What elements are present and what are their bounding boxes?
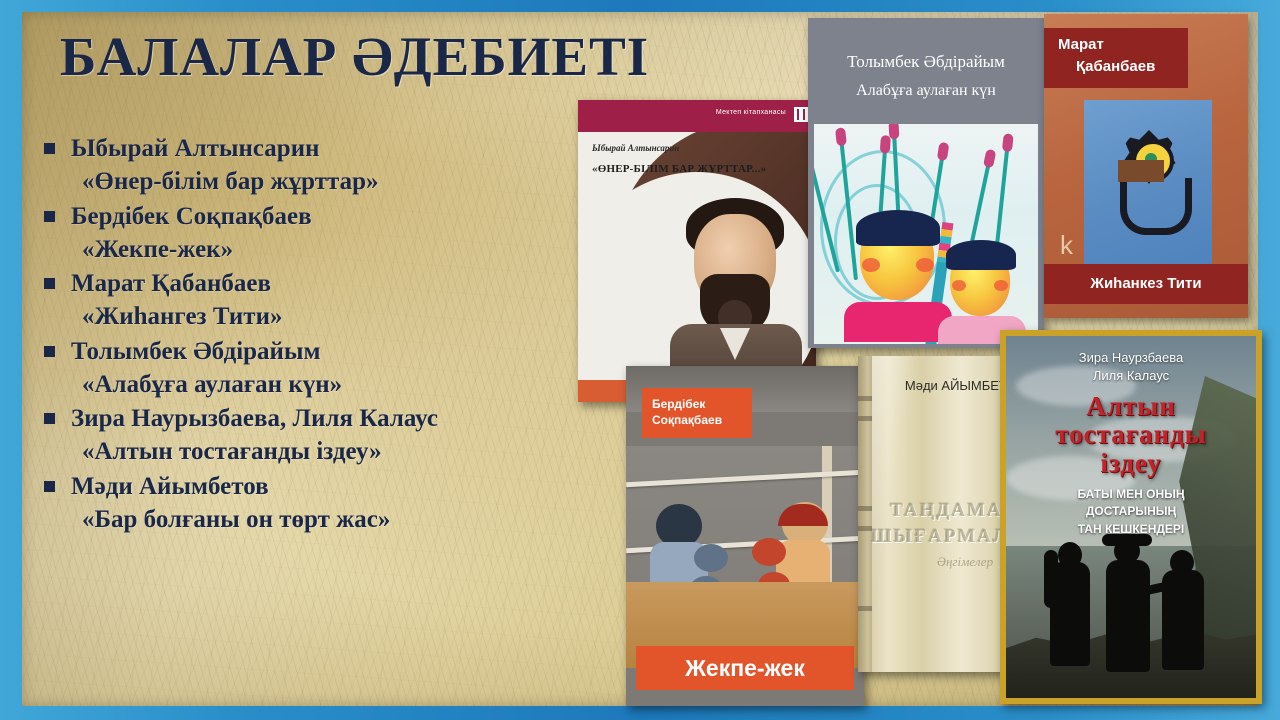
presentation-slide: БАЛАЛАР ӘДЕБИЕТІ Ыбырай Алтынсарин «Өнер… [0, 0, 1280, 720]
bullet-square-icon [44, 481, 55, 492]
abstract-creature-illustration [1112, 122, 1184, 228]
cover-author-block: Марат Қабанбаев [1044, 28, 1188, 88]
boxing-glove [752, 538, 786, 566]
list-item: Зира Наурызбаева, Лиля Калаус «Алтын тос… [44, 402, 644, 469]
list-item-author-row: Толымбек Әбдірайым [44, 335, 644, 368]
cover-author: Ыбырай Алтынсарин [592, 143, 679, 153]
silhouette-hat [1102, 534, 1152, 546]
publisher-logo-icon [794, 107, 808, 122]
cover-author-line2: Лиля Калаус [1006, 368, 1256, 383]
cover-subtitle: БАТЫ МЕН ОНЫҢ ДОСТАРЫНЫҢ ТАН КЕШКЕНДЕРІ [1006, 486, 1256, 538]
cover-author-line2: Қабанбаев [1076, 58, 1155, 75]
book-cover-altynsarin: Мектеп кітапханасы Ыбырай Алтынсарин «ӨН… [578, 100, 816, 402]
cover-title-band: Жекпе-жек [636, 646, 854, 690]
list-item-author: Бердібек Соқпақбаев [71, 200, 312, 233]
boxing-glove [694, 544, 728, 572]
list-item-author: Мәди Айымбетов [71, 470, 269, 503]
cover-subtitle-line1: БАТЫ МЕН ОНЫҢ [1077, 487, 1184, 501]
cover-illustration [814, 124, 1038, 344]
bullet-square-icon [44, 278, 55, 289]
list-item-work: «Алабұға аулаған күн» [44, 368, 644, 401]
cover-publisher-mark: k [1060, 230, 1073, 261]
cover-title: Алтын тостағанды іздеу [1006, 392, 1256, 477]
cover-title: Алабұға аулаған күн [808, 82, 1044, 100]
cover-title: «ӨНЕР-БІЛІМ БАР ЖҰРТТАР...» [592, 163, 766, 175]
cover-author-line1: Марат [1058, 36, 1104, 53]
creature-shape [1118, 160, 1164, 182]
cover-title: Жекпе-жек [636, 655, 854, 682]
list-item-author-row: Мәди Айымбетов [44, 470, 644, 503]
cover-title-band: Жиһанкез Тити [1044, 264, 1248, 304]
list-item-work: «Жекпе-жек» [44, 233, 644, 266]
child-hair [856, 210, 940, 246]
child-hair [946, 240, 1016, 270]
book-cover-altyn-tostagandy-izdeu: Зира Наурзбаева Лиля Калаус Алтын тостағ… [1000, 330, 1262, 704]
list-item: Мәди Айымбетов «Бар болғаны он төрт жас» [44, 470, 644, 537]
child-cheek [916, 258, 934, 272]
list-item-work: «Өнер-білім бар жұрттар» [44, 165, 644, 198]
bullet-square-icon [44, 143, 55, 154]
child-shirt [844, 302, 952, 342]
cover-author-line1: Зира Наурзбаева [1006, 350, 1256, 365]
child-cheek [862, 258, 880, 272]
book-list: Ыбырай Алтынсарин «Өнер-білім бар жұртта… [44, 132, 644, 537]
list-item-author-row: Ыбырай Алтынсарин [44, 132, 644, 165]
bullet-square-icon [44, 413, 55, 424]
cover-subtitle-line2: ДОСТАРЫНЫҢ [1086, 504, 1176, 518]
list-item: Ыбырай Алтынсарин «Өнер-білім бар жұртта… [44, 132, 644, 199]
creature-legs [1120, 178, 1192, 235]
cover-title-line1: Алтын [1086, 391, 1176, 421]
silhouette-hair-girl [1044, 550, 1058, 608]
list-item: Марат Қабанбаев «Жиһангез Тити» [44, 267, 644, 334]
list-item-author-row: Зира Наурызбаева, Лиля Калаус [44, 402, 644, 435]
cover-title-line2: тостағанды [1055, 419, 1207, 449]
child-illustration-right [938, 240, 1030, 344]
cover-author-line1: Бердібек [652, 397, 705, 411]
list-item-work: «Алтын тостағанды іздеу» [44, 435, 644, 468]
cover-author-block: Бердібек Соқпақбаев [642, 388, 752, 438]
cover-author-line2: Соқпақбаев [652, 413, 722, 427]
list-item-author-row: Бердібек Соқпақбаев [44, 200, 644, 233]
list-item-author-row: Марат Қабанбаев [44, 267, 644, 300]
list-item-author: Зира Наурызбаева, Лиля Калаус [71, 402, 438, 435]
cover-series-label: Мектеп кітапханасы [716, 109, 786, 116]
page-title: БАЛАЛАР ӘДЕБИЕТІ [60, 28, 700, 86]
list-item-author: Толымбек Әбдірайым [71, 335, 321, 368]
silhouette-body-boy [1106, 560, 1150, 672]
list-item-author: Ыбырай Алтынсарин [71, 132, 320, 165]
cover-series-band: Мектеп кітапханасы [578, 100, 816, 132]
bullet-square-icon [44, 211, 55, 222]
book-cover-kabanbaev: Марат Қабанбаев k Жиһанкез Тити [1044, 14, 1248, 318]
list-item: Толымбек Әбдірайым «Алабұға аулаған күн» [44, 335, 644, 402]
list-item: Бердібек Соқпақбаев «Жекпе-жек» [44, 200, 644, 267]
list-item-author: Марат Қабанбаев [71, 267, 271, 300]
book-cover-tolymbek: Толымбек Әбдірайым Алабұға аулаған күн [808, 18, 1044, 348]
book-cover-sokpakbaev: Бердібек Соқпақбаев Жекпе-жек [626, 366, 864, 706]
cover-title-line3: іздеу [1100, 448, 1161, 478]
list-item-work: «Бар болғаны он төрт жас» [44, 503, 644, 536]
cover-title: Жиһанкез Тити [1044, 275, 1248, 292]
bullet-square-icon [44, 346, 55, 357]
child-cheek [994, 280, 1008, 291]
cover-art-panel [1084, 100, 1212, 264]
child-cheek [952, 280, 966, 291]
list-item-work: «Жиһангез Тити» [44, 300, 644, 333]
cover-author: Толымбек Әбдірайым [808, 52, 1044, 72]
